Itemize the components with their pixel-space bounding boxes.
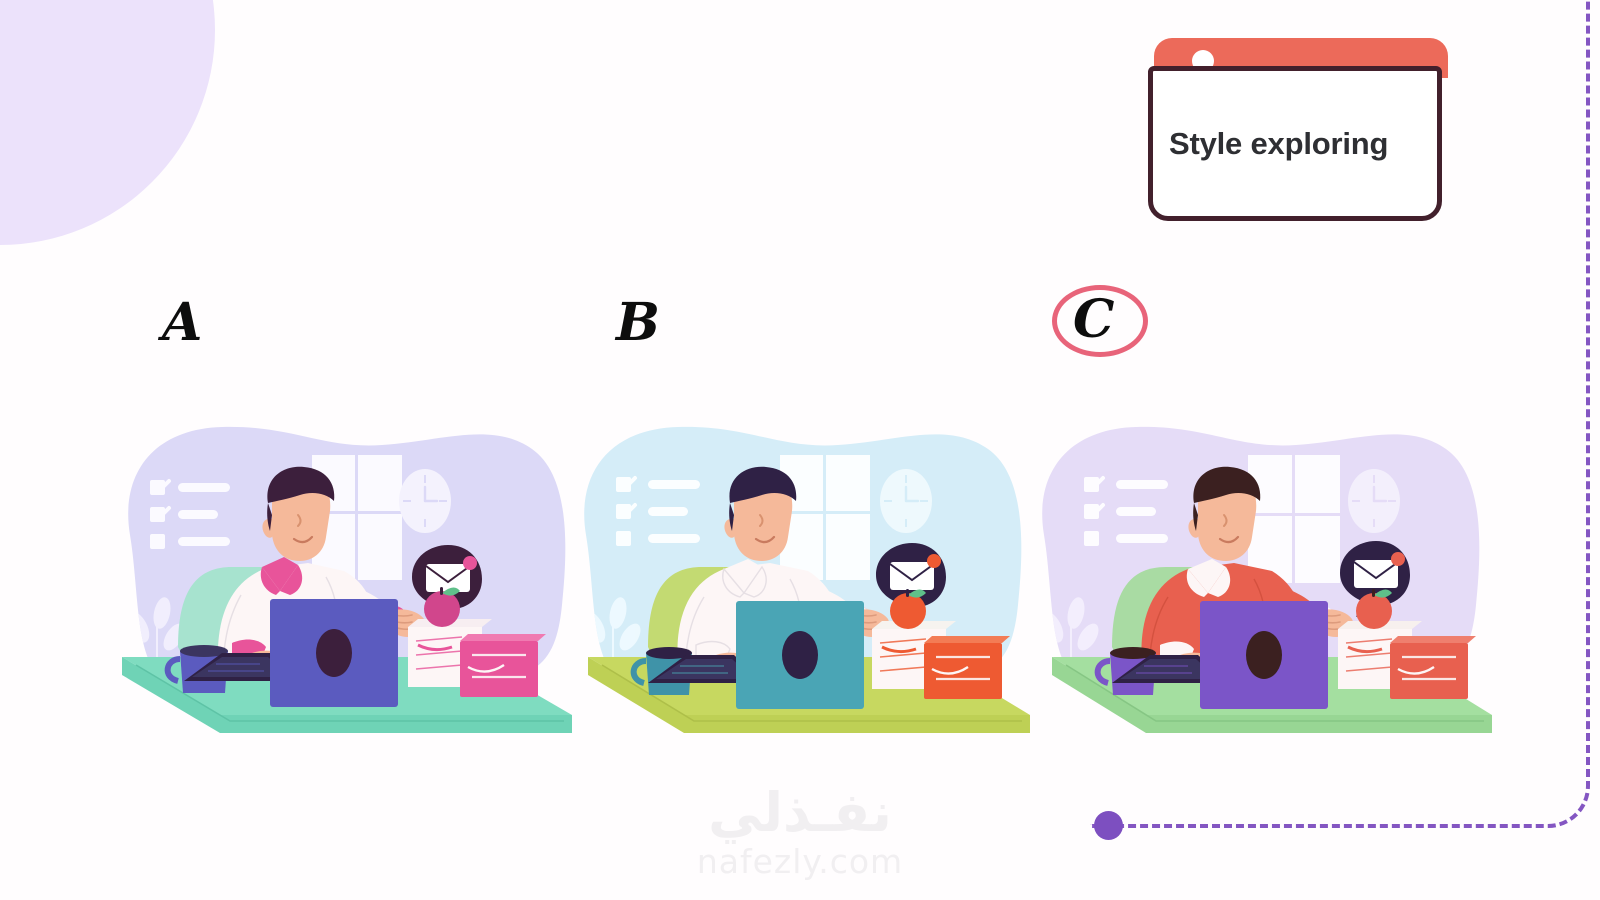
option-label-c: C <box>1073 294 1114 346</box>
illustration-option-b[interactable] <box>568 415 1038 755</box>
slide-canvas: Style exploring A B C <box>0 0 1600 900</box>
dashed-line-endpoint-dot <box>1094 811 1123 840</box>
illustration-option-a[interactable] <box>112 415 582 755</box>
illustration-option-c[interactable] <box>1026 415 1496 755</box>
corner-circle-decoration <box>0 0 215 245</box>
style-exploring-card[interactable]: Style exploring <box>1148 38 1448 221</box>
option-label-b: B <box>616 297 660 349</box>
card-body: Style exploring <box>1148 66 1442 221</box>
watermark-latin: nafezly.com <box>0 842 1600 881</box>
option-label-a: A <box>162 297 202 349</box>
card-title: Style exploring <box>1169 126 1388 162</box>
